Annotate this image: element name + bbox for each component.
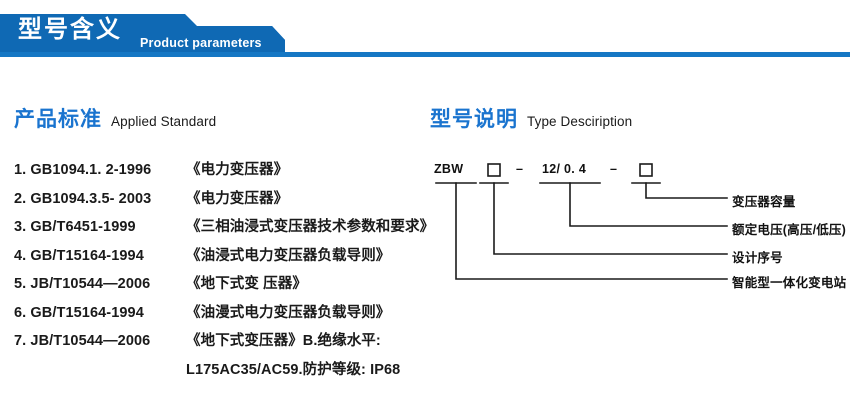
list-item-continuation: L175AC35/AC59.防护等级: IP68 (14, 358, 434, 387)
banner-title: 型号含义 (18, 16, 122, 44)
standard-code: 4. GB/T15164-1994 (14, 248, 186, 264)
capacity-box (640, 164, 652, 176)
standard-name: 《电力变压器》 (186, 158, 288, 179)
page-banner: 型号含义 Product parameters (0, 0, 850, 62)
applied-standard-list: 1. GB1094.1. 2-1996 《电力变压器》 2. GB1094.3.… (14, 158, 434, 386)
segment-prefix: ZBW (434, 162, 463, 176)
banner-shape (0, 0, 850, 62)
standard-name: L175AC35/AC59.防护等级: IP68 (186, 358, 400, 379)
standard-name: 《油浸式电力变压器负载导则》 (186, 244, 390, 265)
standard-code: 7. JB/T10544—2006 (14, 333, 186, 349)
standard-code: 3. GB/T6451-1999 (14, 219, 186, 235)
list-item: 7. JB/T10544—2006 《地下式变压器》B.绝缘水平: (14, 329, 434, 358)
design-no-box (488, 164, 500, 176)
section-heading-cn: 产品标准 (14, 108, 102, 131)
segment-dash-1: – (516, 162, 523, 176)
standard-name: 《电力变压器》 (186, 187, 288, 208)
section-heading-applied-standard: 产品标准Applied Standard (14, 103, 216, 133)
standard-name: 《地下式变 压器》 (186, 272, 307, 293)
list-item: 6. GB/T15164-1994 《油漫式电力变压器负载导则》 (14, 301, 434, 330)
leader-design-no (494, 183, 727, 254)
standard-code: 6. GB/T15164-1994 (14, 305, 186, 321)
list-item: 5. JB/T10544—2006 《地下式变 压器》 (14, 272, 434, 301)
segment-dash-2: – (610, 162, 617, 176)
list-item: 2. GB1094.3.5- 2003 《电力变压器》 (14, 187, 434, 216)
standard-code: 1. GB1094.1. 2-1996 (14, 162, 186, 178)
section-heading-type-description: 型号说明Type Desciription (430, 103, 632, 133)
standard-name: 《地下式变压器》B.绝缘水平: (186, 329, 381, 350)
banner-thin-bar (0, 52, 850, 57)
segment-voltage: 12/ 0. 4 (542, 162, 586, 176)
section-heading-cn: 型号说明 (430, 108, 518, 131)
leader-capacity (646, 183, 727, 198)
leader-label-capacity: 变压器容量 (732, 191, 796, 210)
type-designation-diagram: ZBW – 12/ 0. 4 – 变压器容量 额定电压(高压/低压) 设计序号 … (420, 150, 850, 290)
leader-label-voltage: 额定电压(高压/低压) (732, 219, 846, 238)
leader-label-prefix: 智能型一体化变电站 (732, 272, 846, 291)
list-item: 4. GB/T15164-1994 《油浸式电力变压器负载导则》 (14, 244, 434, 273)
standard-code: 5. JB/T10544—2006 (14, 276, 186, 292)
standard-name: 《油漫式电力变压器负载导则》 (186, 301, 390, 322)
standard-code: 2. GB1094.3.5- 2003 (14, 191, 186, 207)
list-item: 1. GB1094.1. 2-1996 《电力变压器》 (14, 158, 434, 187)
section-heading-en: Type Desciription (527, 114, 632, 129)
banner-subtitle: Product parameters (140, 36, 262, 50)
leader-label-design-no: 设计序号 (732, 247, 783, 266)
leader-voltage (570, 183, 727, 226)
list-item: 3. GB/T6451-1999 《三相油浸式变压器技术参数和要求》 (14, 215, 434, 244)
section-heading-en: Applied Standard (111, 114, 216, 129)
standard-name: 《三相油浸式变压器技术参数和要求》 (186, 215, 434, 236)
banner-notch (272, 26, 285, 52)
